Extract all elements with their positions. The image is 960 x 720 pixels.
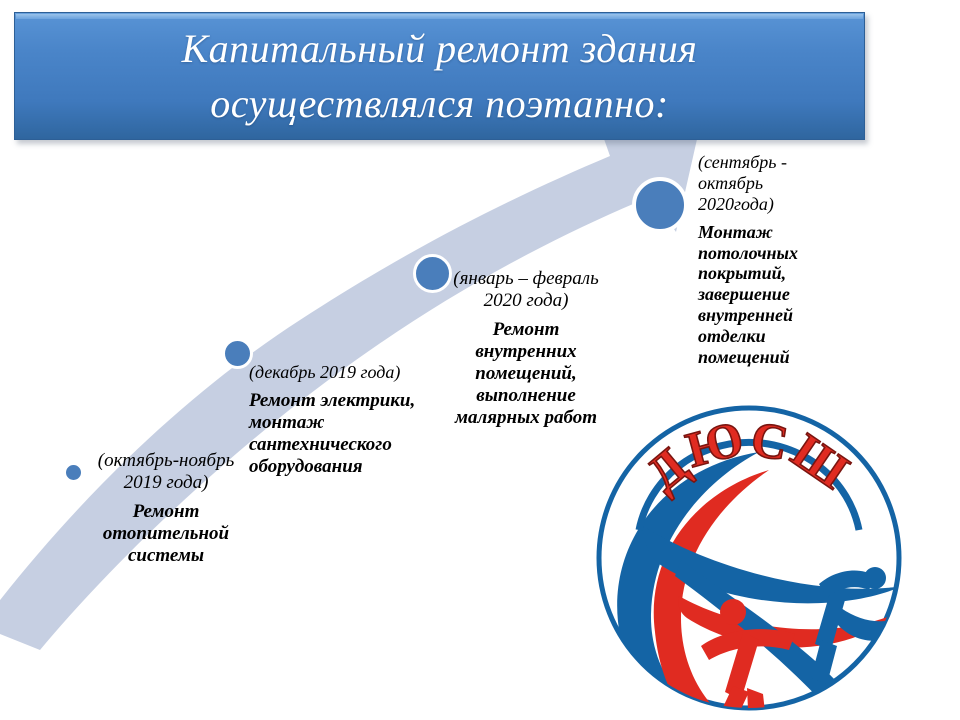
stage-block-3: (январь – февраль 2020 года) Ремонт внут… (446, 268, 606, 429)
stage-4-date: (сентябрь - октябрь 2020года) (698, 152, 820, 215)
stage-block-1: (октябрь-ноябрь 2019 года) Ремонт отопит… (96, 450, 236, 567)
stage-3-date: (январь – февраль 2020 года) (446, 268, 606, 312)
page-title-line-2: осуществлялся поэтапно: (210, 76, 669, 131)
slide-canvas: Капитальный ремонт здания осуществлялся … (0, 0, 960, 720)
stage-2-description: Ремонт электрики, монтаж сантехнического… (249, 390, 444, 478)
page-title-line-1: Капитальный ремонт здания (182, 21, 698, 76)
stage-block-2: (декабрь 2019 года) Ремонт электрики, мо… (249, 362, 444, 478)
slide-title-banner: Капитальный ремонт здания осуществлялся … (14, 12, 865, 140)
stage-block-4: (сентябрь - октябрь 2020года) Монтаж пот… (698, 152, 820, 368)
stage-1-description: Ремонт отопительной системы (96, 501, 236, 567)
stage-marker-1 (64, 463, 83, 482)
stage-3-description: Ремонт внутренних помещений, выполнение … (446, 319, 606, 429)
dyussh-logo: ДЮСШ (583, 400, 915, 716)
stage-marker-4 (632, 177, 688, 233)
stage-1-date: (октябрь-ноябрь 2019 года) (96, 450, 236, 494)
logo-thrower-ball (864, 567, 886, 589)
stage-4-description: Монтаж потолочных покрытий, завершение в… (698, 222, 820, 368)
logo-athlete-head (720, 599, 746, 625)
stage-2-date: (декабрь 2019 года) (249, 362, 444, 383)
